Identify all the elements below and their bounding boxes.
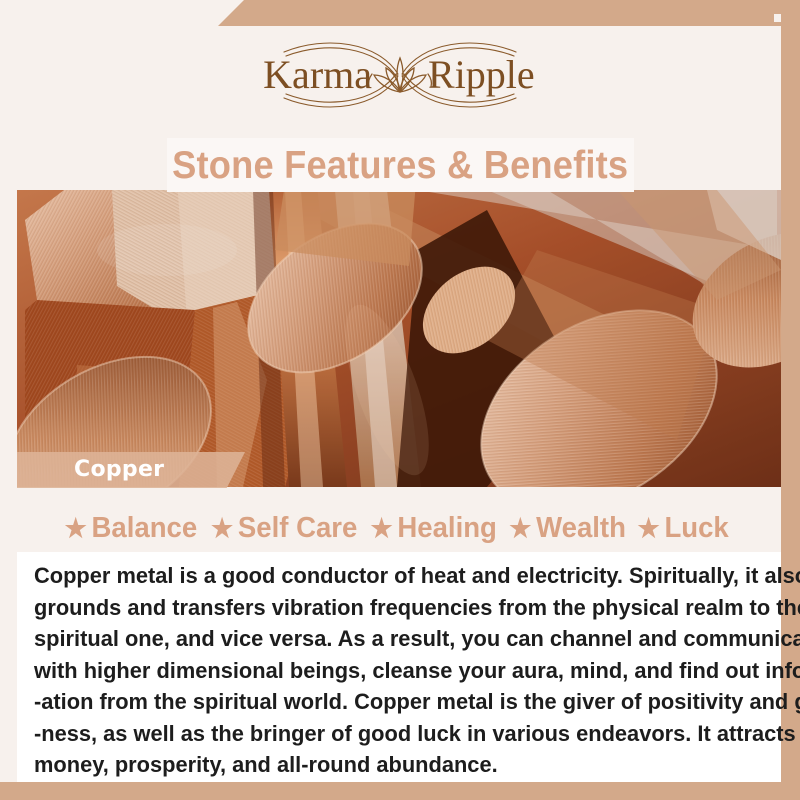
description-line: -ation from the spiritual world. Copper … [34, 686, 748, 718]
star-icon: ★ [370, 515, 392, 541]
feature-label: Healing [397, 514, 502, 543]
star-icon: ★ [211, 515, 233, 541]
frame-bottom-border [0, 782, 800, 800]
feature-item-wealth: ★ Wealth [509, 514, 631, 543]
description-text: Copper metal is a good conductor of heat… [34, 560, 770, 781]
photo-caption-banner: Copper [17, 452, 245, 488]
feature-label: Luck [664, 514, 734, 543]
feature-item-healing: ★ Healing [370, 514, 502, 543]
star-icon: ★ [509, 515, 531, 541]
description-line: spiritual one, and vice versa. As a resu… [34, 623, 748, 655]
copper-rods-illustration [17, 190, 781, 487]
title-banner: Stone Features & Benefits [167, 138, 634, 192]
brand-name-right: Ripple [428, 52, 535, 97]
feature-label: Self Care [238, 514, 363, 543]
brand-logo-svg: Karma Ripple [220, 30, 580, 122]
description-line: with higher dimensional beings, cleanse … [34, 655, 748, 687]
brand-logo: Karma Ripple [0, 30, 800, 122]
description-line: Copper metal is a good conductor of heat… [34, 560, 748, 592]
description-panel: Copper metal is a good conductor of heat… [17, 552, 781, 782]
page-title: Stone Features & Benefits [172, 146, 628, 185]
frame-top-angled-band [218, 0, 800, 26]
description-line: grounds and transfers vibration frequenc… [34, 592, 748, 624]
copper-rods-photo [17, 190, 781, 487]
feature-item-balance: ★ Balance [65, 514, 203, 543]
description-line: money, prosperity, and all-round abundan… [34, 749, 748, 781]
feature-item-luck: ★ Luck [637, 514, 734, 543]
star-icon: ★ [637, 515, 659, 541]
infographic-page: Karma Ripple Stone Features & Benefits [0, 0, 800, 800]
frame-corner-gap [774, 14, 781, 22]
feature-label: Wealth [536, 514, 632, 543]
star-icon: ★ [65, 515, 87, 541]
feature-label: Balance [92, 514, 203, 543]
photo-caption-label: Copper [74, 459, 164, 481]
feature-item-self-care: ★ Self Care [211, 514, 363, 543]
features-row: ★ Balance ★ Self Care ★ Healing ★ Wealth… [17, 509, 781, 547]
description-line: -ness, as well as the bringer of good lu… [34, 718, 748, 750]
brand-name-left: Karma [263, 52, 372, 97]
